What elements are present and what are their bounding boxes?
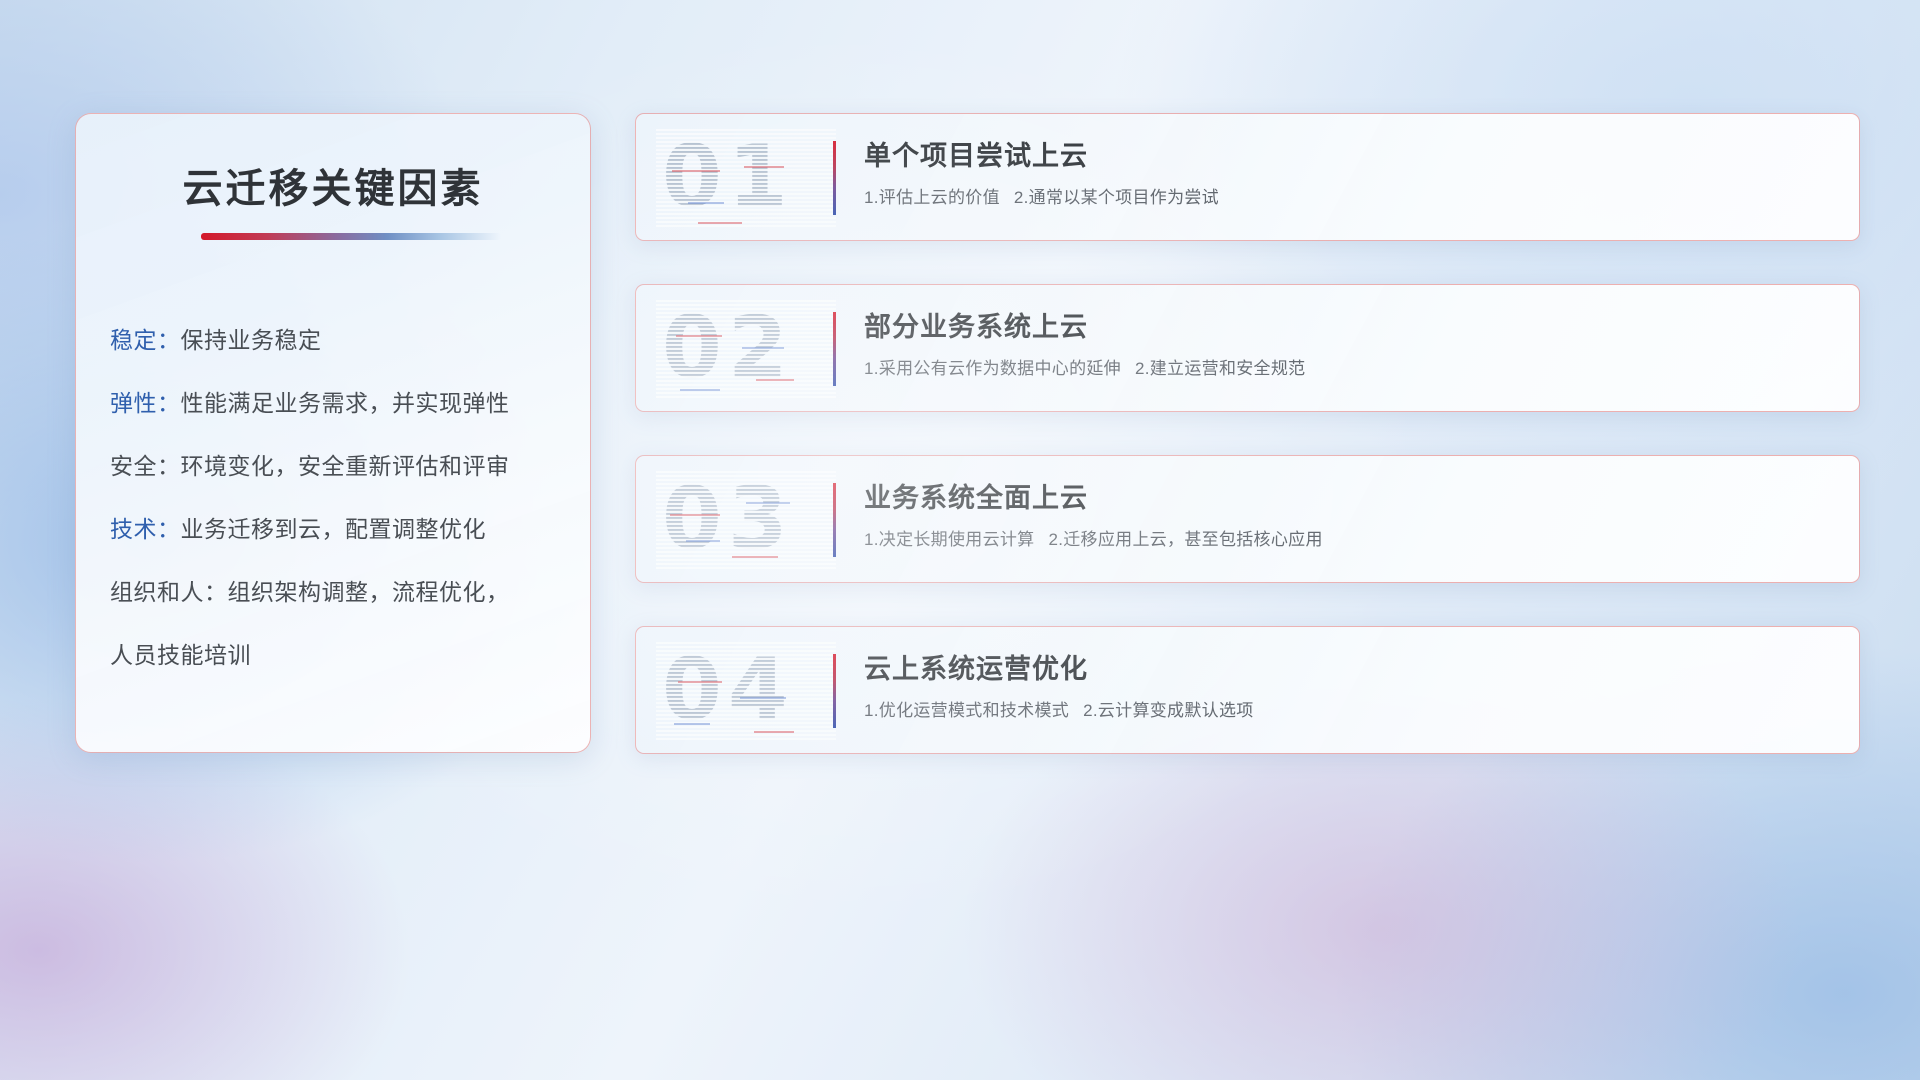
stage-points: 1.决定长期使用云计算2.迁移应用上云，甚至包括核心应用 [864,528,1839,552]
glitch-line-blue [746,502,790,504]
stage-points: 1.评估上云的价值2.通常以某个项目作为尝试 [864,186,1839,210]
title-underline-gradient [201,233,501,240]
factor-item-elasticity: 弹性：性能满足业务需求，并实现弹性 [110,372,572,435]
glitch-line-blue [680,389,720,391]
page-title: 云迁移关键因素 [76,156,590,214]
stage-point-1: 1.采用公有云作为数据中心的延伸 [864,359,1121,378]
stage-number-01: 01 [662,134,794,220]
glitch-line-red [754,731,794,733]
factor-item-organization: 组织和人：组织架构调整，流程优化， [110,561,572,624]
factor-value: 业务迁移到云，配置调整优化 [181,516,487,542]
glitch-line-red [678,681,722,683]
stage-divider-bar [833,141,836,215]
glitch-line-red [744,166,784,168]
slide-canvas: 云迁移关键因素 稳定：保持业务稳定 弹性：性能满足业务需求，并实现弹性 安全：环… [0,0,1920,1080]
stage-number-stripe-overlay [656,469,836,569]
stage-point-2: 2.通常以某个项目作为尝试 [1014,188,1219,207]
stage-title: 部分业务系统上云 [864,309,1839,345]
glitch-line-red [732,556,778,558]
stage-card-01[interactable]: 01 单个项目尝试上云 1.评估上云的价值2.通常以某个项目作为尝试 [635,113,1860,241]
stage-card-body: 单个项目尝试上云 1.评估上云的价值2.通常以某个项目作为尝试 [864,138,1839,210]
migration-stage-card-list: 01 单个项目尝试上云 1.评估上云的价值2.通常以某个项目作为尝试 02 [635,113,1860,797]
stage-number-04: 04 [662,647,794,733]
stage-point-2: 2.云计算变成默认选项 [1083,701,1253,720]
factor-key: 组织和人： [110,579,228,605]
factor-value: 性能满足业务需求，并实现弹性 [181,390,510,416]
stage-title: 单个项目尝试上云 [864,138,1839,174]
stage-divider-bar [833,483,836,557]
factor-item-organization-continued: 人员技能培训 [110,624,572,687]
glitch-line-red [670,514,720,516]
stage-point-1: 1.评估上云的价值 [864,188,1000,207]
stage-point-2: 2.迁移应用上云，甚至包括核心应用 [1048,530,1322,549]
stage-card-04[interactable]: 04 云上系统运营优化 1.优化运营模式和技术模式2.云计算变成默认选项 [635,626,1860,754]
factor-value: 环境变化，安全重新评估和评审 [181,453,510,479]
factor-item-stability: 稳定：保持业务稳定 [110,309,572,372]
key-factors-panel: 云迁移关键因素 稳定：保持业务稳定 弹性：性能满足业务需求，并实现弹性 安全：环… [75,113,591,753]
glitch-line-blue [688,202,724,204]
glitch-line-blue [686,540,720,542]
factor-key: 技术： [110,516,181,542]
glitch-line-blue [740,697,786,699]
stage-divider-bar [833,312,836,386]
stage-point-1: 1.决定长期使用云计算 [864,530,1034,549]
stage-card-body: 部分业务系统上云 1.采用公有云作为数据中心的延伸2.建立运营和安全规范 [864,309,1839,381]
stage-points: 1.采用公有云作为数据中心的延伸2.建立运营和安全规范 [864,357,1839,381]
factor-list: 稳定：保持业务稳定 弹性：性能满足业务需求，并实现弹性 安全：环境变化，安全重新… [110,309,572,687]
factor-key: 安全： [110,453,181,479]
stage-divider-bar [833,654,836,728]
factor-value: 保持业务稳定 [181,327,322,353]
stage-number-02: 02 [662,305,794,391]
stage-point-1: 1.优化运营模式和技术模式 [864,701,1069,720]
glitch-line-red [672,170,720,172]
stage-number-03: 03 [662,476,794,562]
glitch-line-red [756,379,794,381]
stage-card-03[interactable]: 03 业务系统全面上云 1.决定长期使用云计算2.迁移应用上云，甚至包括核心应用 [635,455,1860,583]
factor-item-security: 安全：环境变化，安全重新评估和评审 [110,435,572,498]
factor-key: 稳定： [110,327,181,353]
stage-points: 1.优化运营模式和技术模式2.云计算变成默认选项 [864,699,1839,723]
glitch-line-blue [674,723,710,725]
factor-key: 弹性： [110,390,181,416]
stage-title: 业务系统全面上云 [864,480,1839,516]
stage-number-stripe-overlay [656,298,836,398]
stage-number-stripe-overlay [656,127,836,227]
factor-item-technology: 技术：业务迁移到云，配置调整优化 [110,498,572,561]
stage-title: 云上系统运营优化 [864,651,1839,687]
stage-card-body: 业务系统全面上云 1.决定长期使用云计算2.迁移应用上云，甚至包括核心应用 [864,480,1839,552]
stage-number-stripe-overlay [656,640,836,740]
factor-value: 人员技能培训 [110,642,251,668]
stage-card-body: 云上系统运营优化 1.优化运营模式和技术模式2.云计算变成默认选项 [864,651,1839,723]
glitch-line-blue [742,347,784,349]
factor-value: 组织架构调整，流程优化， [228,579,510,605]
glitch-line-red [676,335,722,337]
stage-card-02[interactable]: 02 部分业务系统上云 1.采用公有云作为数据中心的延伸2.建立运营和安全规范 [635,284,1860,412]
glitch-line-red [698,222,742,224]
stage-point-2: 2.建立运营和安全规范 [1135,359,1305,378]
